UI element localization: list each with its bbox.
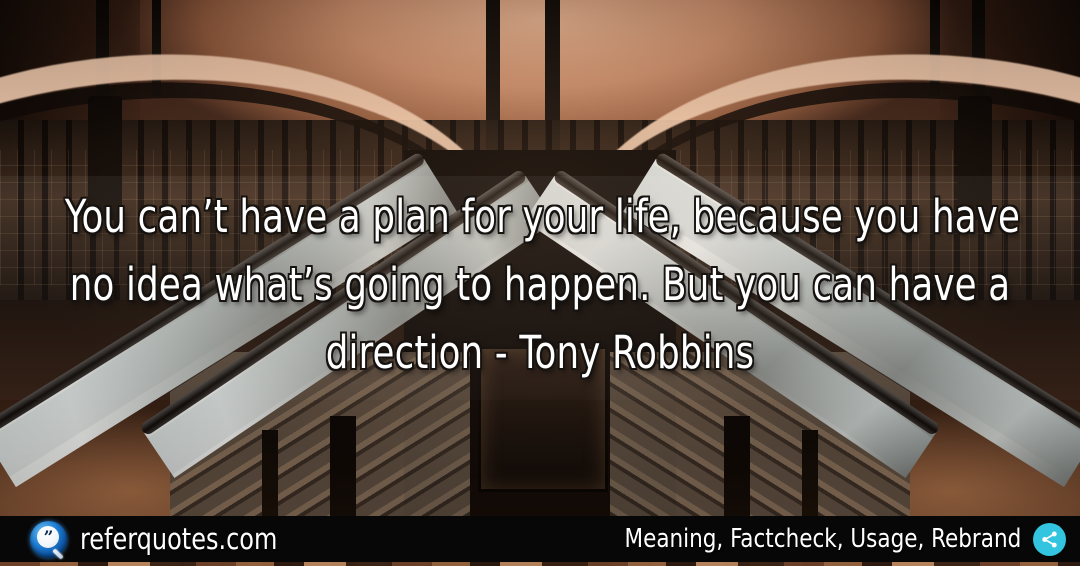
- magnifier-quote-icon: ”: [30, 521, 67, 558]
- bottom-photo-strip: [0, 562, 1080, 566]
- brand-link[interactable]: ” referquotes.com: [30, 521, 295, 558]
- magnifier-handle: [52, 548, 63, 559]
- color-grade-overlay: [0, 0, 1080, 566]
- footer-tagline: Meaning, Factcheck, Usage, Rebrand: [624, 525, 1021, 553]
- background-photo: [0, 0, 1080, 566]
- quote-card: You can’t have a plan for your life, bec…: [0, 0, 1080, 566]
- share-button[interactable]: [1033, 523, 1066, 556]
- logo-quote-glyph: ”: [44, 530, 53, 547]
- share-icon: [1040, 530, 1059, 549]
- footer-right-group: Meaning, Factcheck, Usage, Rebrand: [590, 523, 1066, 556]
- brand-name: referquotes.com: [80, 524, 277, 554]
- footer-bar: ” referquotes.com Meaning, Factcheck, Us…: [0, 516, 1080, 562]
